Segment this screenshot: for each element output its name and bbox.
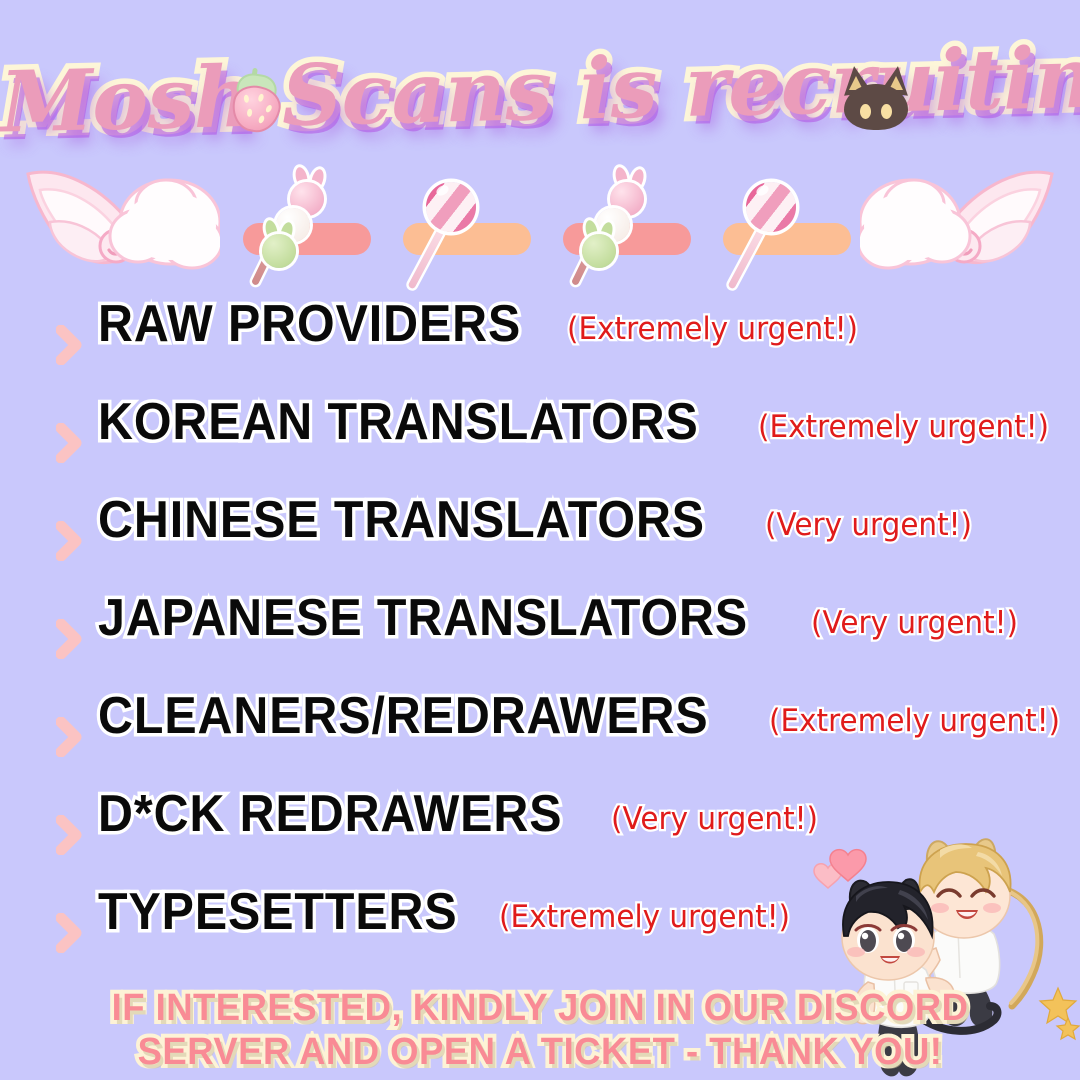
list-item[interactable]: CLEANERS/REDRAWERS (Extremely urgent!) — [0, 688, 1080, 786]
role-urgency: (Very urgent!) — [765, 508, 972, 542]
role-list: RAW PROVIDERS (Extremely urgent!) KOREAN… — [0, 296, 1080, 982]
lollipop-icon — [412, 184, 490, 294]
chevron-right-icon — [56, 913, 82, 953]
role-label: RAW PROVIDERS — [98, 296, 521, 352]
role-label: TYPESETTERS — [98, 884, 458, 940]
role-urgency: (Extremely urgent!) — [769, 704, 1060, 738]
list-item[interactable]: D*CK REDRAWERS (Very urgent!) — [0, 786, 1080, 884]
role-urgency: (Extremely urgent!) — [499, 900, 790, 934]
chevron-right-icon — [56, 325, 82, 365]
role-label: CHINESE TRANSLATORS — [98, 492, 705, 548]
role-label: KOREAN TRANSLATORS — [98, 394, 699, 450]
lollipop-icon — [732, 184, 810, 294]
list-item[interactable]: KOREAN TRANSLATORS (Extremely urgent!) — [0, 394, 1080, 492]
chevron-right-icon — [56, 423, 82, 463]
angel-wing-cloud-icon — [860, 160, 1060, 285]
page-title: Mosh Scans is recruiting! — [0, 21, 1080, 158]
chevron-right-icon — [56, 619, 82, 659]
role-urgency: (Extremely urgent!) — [758, 410, 1049, 444]
list-item[interactable]: JAPANESE TRANSLATORS (Very urgent!) — [0, 590, 1080, 688]
footer-line-2: SERVER AND OPEN A TICKET - THANK YOU! — [22, 1030, 1059, 1074]
role-urgency: (Very urgent!) — [811, 606, 1018, 640]
role-urgency: (Extremely urgent!) — [567, 312, 858, 346]
footer-call-to-action: IF INTERESTED, KINDLY JOIN IN OUR DISCOR… — [0, 986, 1080, 1074]
list-item[interactable]: TYPESETTERS (Extremely urgent!) — [0, 884, 1080, 982]
chevron-right-icon — [56, 521, 82, 561]
role-label: JAPANESE TRANSLATORS — [98, 590, 748, 646]
role-urgency: (Very urgent!) — [611, 802, 818, 836]
recruitment-poster: Mosh Scans is recruiting! — [0, 0, 1080, 1080]
chevron-right-icon — [56, 717, 82, 757]
star-icon — [1040, 988, 1076, 1023]
angel-wing-cloud-icon — [20, 160, 220, 285]
list-item[interactable]: RAW PROVIDERS (Extremely urgent!) — [0, 296, 1080, 394]
role-label: D*CK REDRAWERS — [98, 786, 562, 842]
role-label: CLEANERS/REDRAWERS — [98, 688, 709, 744]
dango-skewer-icon — [570, 182, 654, 292]
dango-skewer-icon — [250, 182, 334, 292]
decorative-divider — [0, 160, 1080, 290]
footer-line-1: IF INTERESTED, KINDLY JOIN IN OUR DISCOR… — [22, 986, 1059, 1030]
chevron-right-icon — [56, 815, 82, 855]
list-item[interactable]: CHINESE TRANSLATORS (Very urgent!) — [0, 492, 1080, 590]
star-icon — [1057, 1018, 1079, 1039]
poster-title-area: Mosh Scans is recruiting! — [0, 34, 1080, 154]
